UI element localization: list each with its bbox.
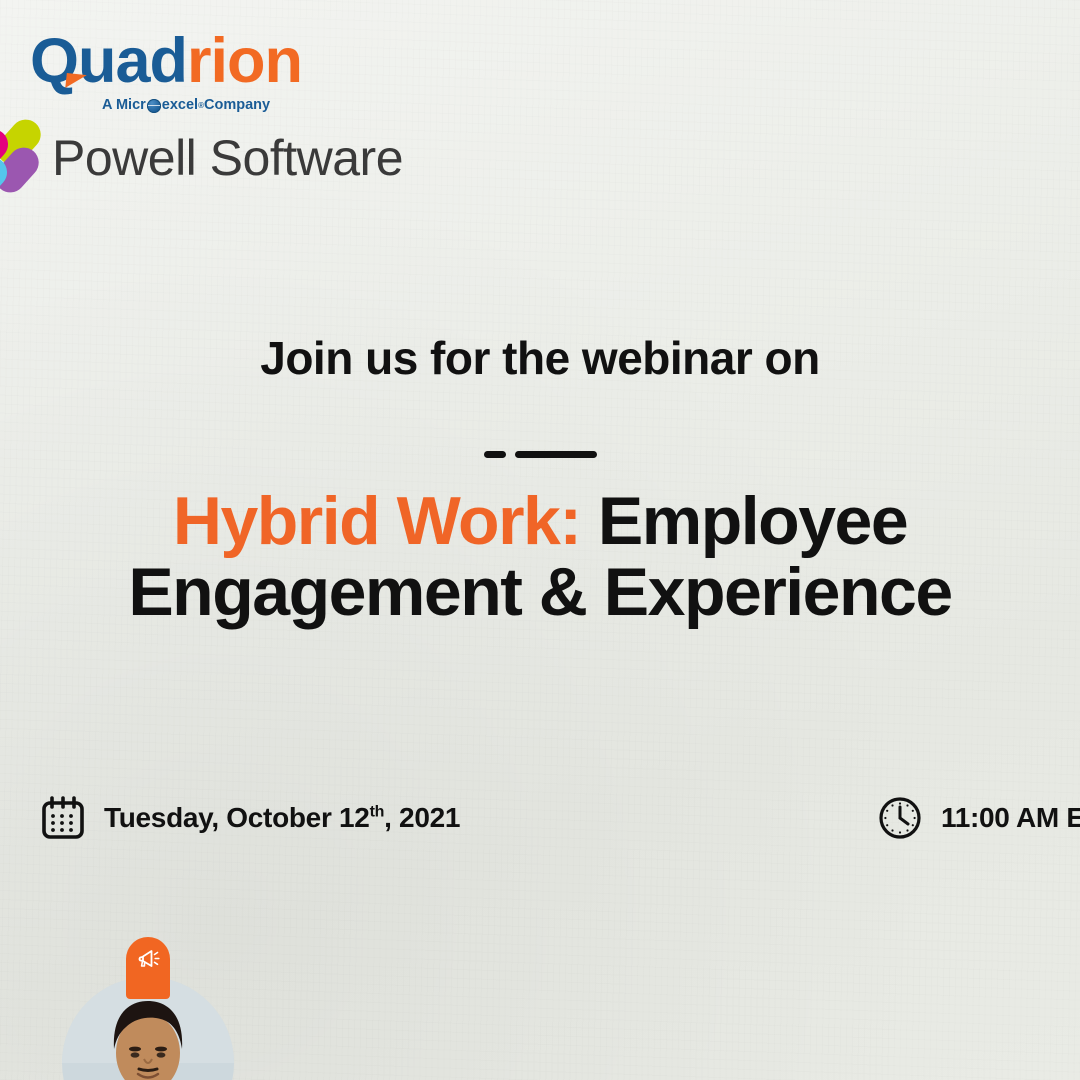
webinar-kicker: Join us for the webinar on bbox=[0, 331, 1080, 385]
speaker-card-left: Ashish Gupta Director of Collaboration S… bbox=[0, 977, 298, 1080]
webinar-poster: Quadrion A Micr excel ® Company Powell S… bbox=[0, 0, 1080, 1080]
event-date-text: Tuesday, October 12th, 2021 bbox=[104, 802, 460, 834]
divider-dash-short bbox=[484, 451, 506, 458]
event-date-ordinal: th bbox=[370, 804, 385, 821]
tagline-before: A Micr bbox=[102, 97, 146, 113]
quadrion-wordmark-part1: Quad bbox=[30, 26, 187, 96]
tagline-after: excel bbox=[162, 97, 198, 113]
event-time: 11:00 AM EST bbox=[877, 795, 1080, 841]
event-date-year: , 2021 bbox=[384, 802, 460, 833]
powell-s-mark-icon bbox=[0, 119, 36, 197]
calendar-icon bbox=[40, 795, 86, 841]
event-meta-row: Tuesday, October 12th, 2021 11:00 AM EST bbox=[40, 795, 1080, 841]
quadrion-logo: Quadrion A Micr excel ® Company bbox=[30, 30, 330, 113]
quadrion-q-arrow-icon bbox=[65, 73, 86, 90]
divider-dash-long bbox=[515, 451, 597, 458]
speaker-left-avatar-wrap bbox=[62, 977, 234, 1080]
hero-divider bbox=[0, 451, 1080, 458]
clock-icon bbox=[877, 795, 923, 841]
event-time-text: 11:00 AM EST bbox=[941, 802, 1080, 834]
tagline-end: Company bbox=[204, 97, 270, 113]
quadrion-tagline: A Micr excel ® Company bbox=[102, 97, 330, 113]
megaphone-glyph bbox=[135, 947, 161, 971]
quadrion-wordmark-part2: rion bbox=[187, 26, 302, 96]
powell-software-name: Powell Software bbox=[52, 129, 403, 187]
webinar-title-highlight: Hybrid Work: bbox=[173, 483, 581, 559]
globe-icon bbox=[147, 99, 161, 113]
megaphone-icon bbox=[126, 937, 170, 999]
event-date-weekday: Tuesday, October 12 bbox=[104, 802, 370, 833]
webinar-title: Hybrid Work: Employee Engagement & Exper… bbox=[0, 486, 1080, 627]
powell-software-logo: Powell Software bbox=[0, 119, 1052, 197]
quadrion-wordmark: Quadrion bbox=[30, 30, 330, 93]
event-date: Tuesday, October 12th, 2021 bbox=[40, 795, 460, 841]
